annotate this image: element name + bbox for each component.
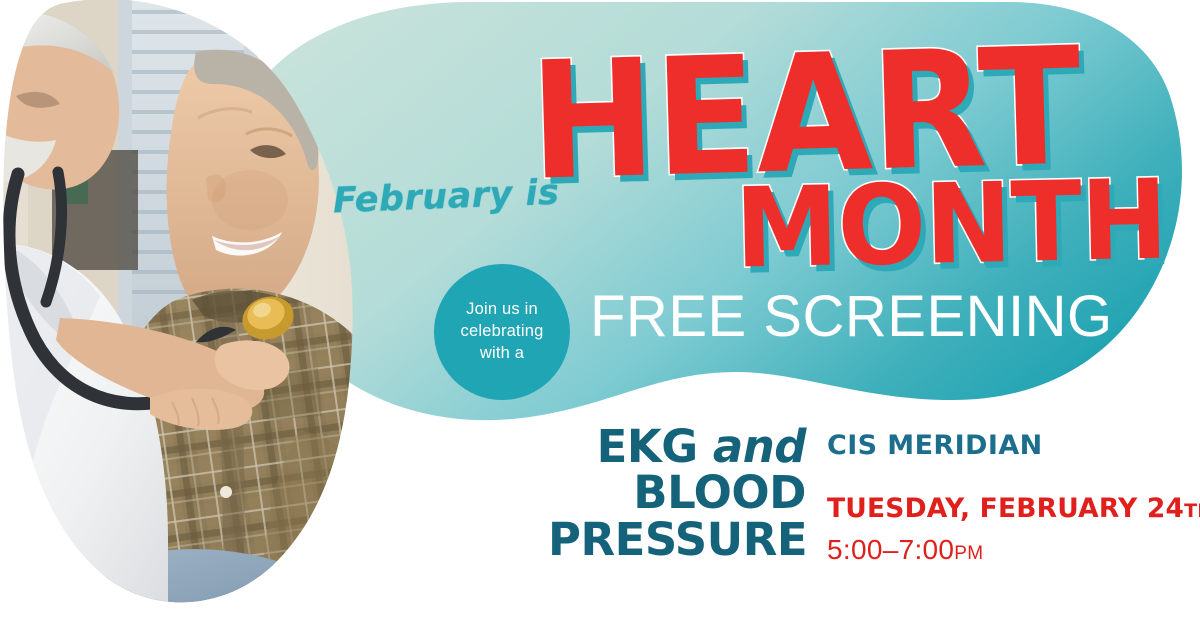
- headline-month-text: MONTH: [734, 155, 1169, 293]
- badge-line-1: Join us in: [466, 299, 538, 321]
- venue-name: CIS MERIDIAN: [827, 432, 1200, 459]
- event-time-range: 5:00–7:00: [827, 534, 954, 565]
- service-line-1: EKG and: [548, 424, 806, 470]
- join-us-badge: Join us in celebrating with a: [434, 264, 570, 400]
- service-ekg: EKG: [597, 420, 698, 473]
- heart-month-screening-banner: February is HEART MONTH Join us in celeb…: [0, 0, 1200, 628]
- doctor-patient-photo: [0, 0, 470, 628]
- event-details: CIS MERIDIAN TUESDAY, FEBRUARY 24TH 5:00…: [827, 432, 1200, 564]
- services-block: EKG and BLOOD PRESSURE: [548, 424, 806, 563]
- event-time: 5:00–7:00PM: [827, 536, 1200, 564]
- event-date-main: TUESDAY, FEBRUARY 24: [827, 493, 1184, 524]
- headline-month: MONTH: [734, 164, 1168, 283]
- event-time-meridiem: PM: [954, 543, 983, 564]
- subheadline-free-screening: FREE SCREENING: [590, 288, 1113, 346]
- service-line-3: PRESSURE: [548, 517, 806, 563]
- badge-line-3: with a: [480, 343, 524, 365]
- badge-line-2: celebrating: [461, 321, 544, 343]
- service-line-2: BLOOD: [548, 470, 806, 516]
- service-and: and: [713, 420, 806, 473]
- event-date-suffix: TH: [1184, 500, 1200, 522]
- event-date: TUESDAY, FEBRUARY 24TH: [827, 496, 1200, 523]
- photo-container: [0, 0, 470, 628]
